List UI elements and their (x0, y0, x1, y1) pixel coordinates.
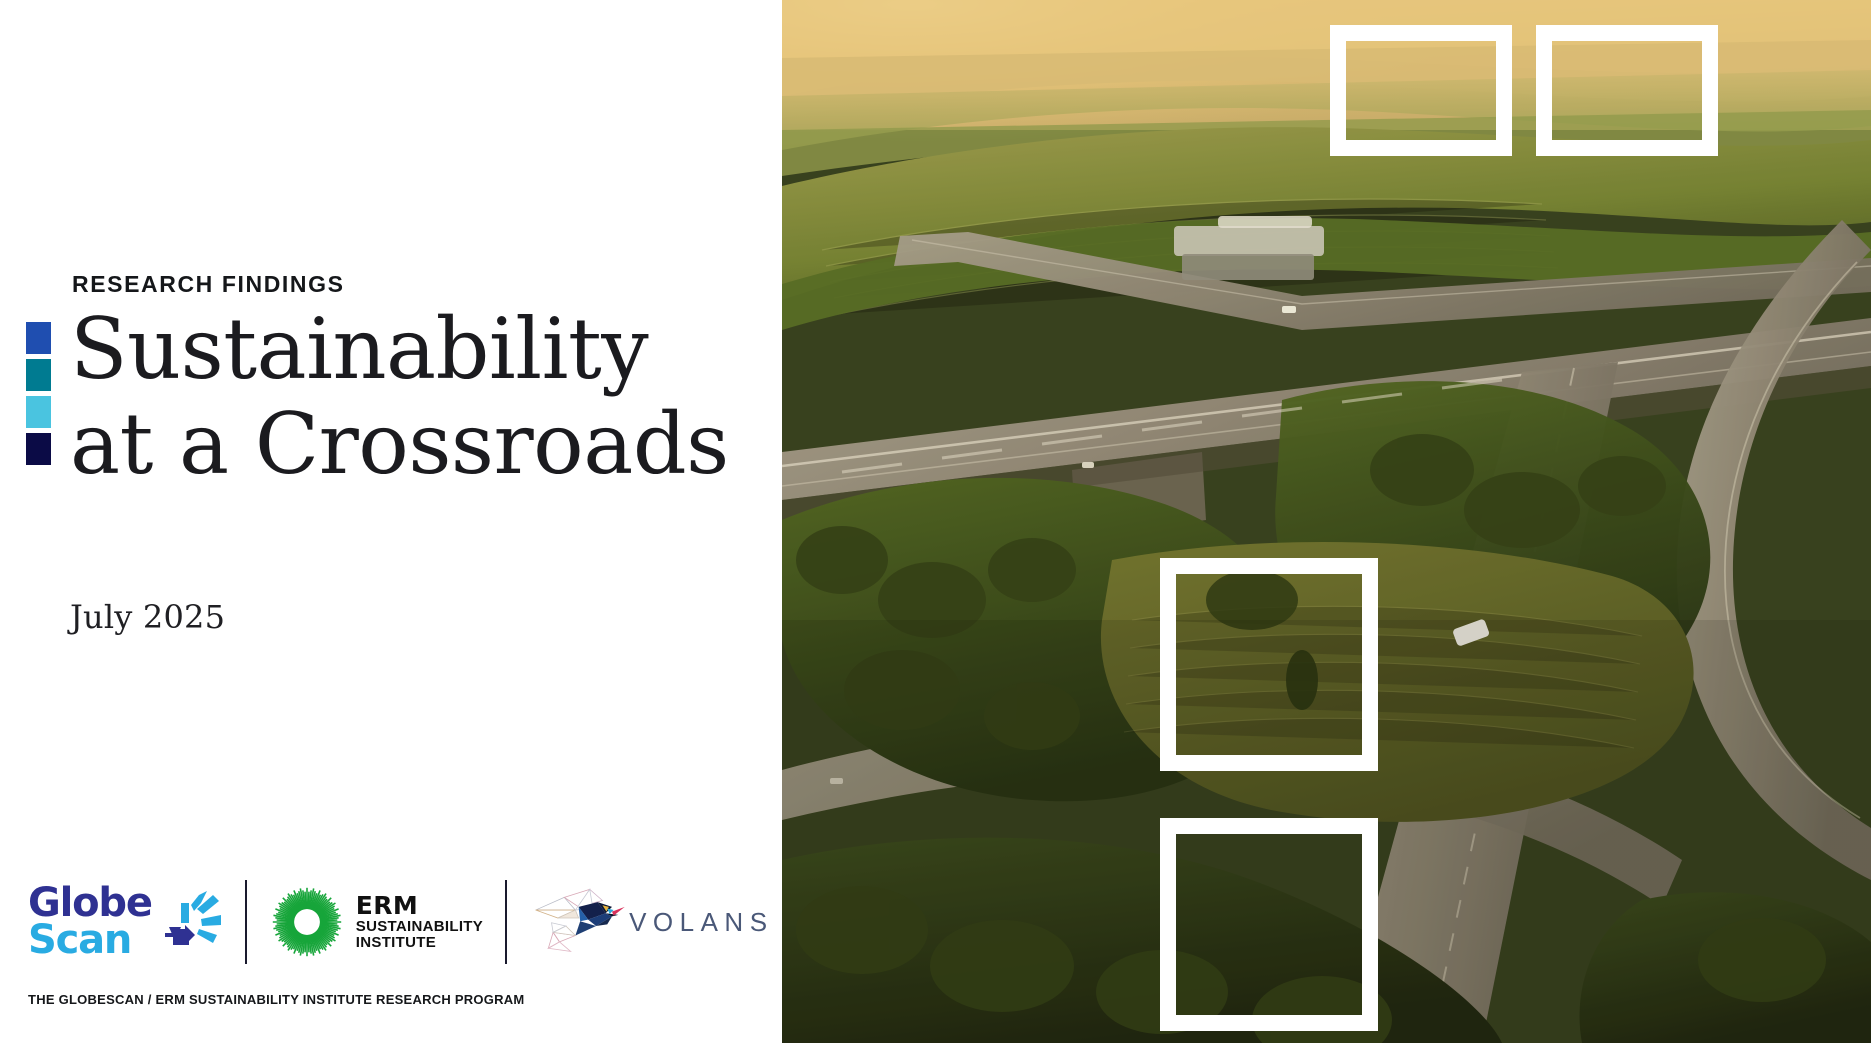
brand-swatch-stack (26, 322, 51, 465)
title-line-2: at a Crossroads (70, 397, 770, 492)
cover-text-panel: RESEARCH FINDINGS Sustainability at a Cr… (0, 0, 782, 1043)
footer-tagline: THE GLOBESCAN / ERM SUSTAINABILITY INSTI… (28, 992, 525, 1007)
erm-sub-institute: INSTITUTE (356, 935, 483, 951)
erm-name: ERM (356, 893, 483, 919)
cover-photograph (782, 0, 1871, 1043)
logo-divider-2 (505, 880, 507, 964)
volans-logo-cell: VOLANS (529, 877, 774, 967)
erm-sunburst-icon (269, 884, 345, 960)
erm-sub-sustainability: SUSTAINABILITY (356, 919, 483, 935)
eyebrow-label: RESEARCH FINDINGS (72, 271, 345, 298)
erm-logo-cell: ERM SUSTAINABILITY INSTITUTE (269, 877, 483, 967)
globescan-logo: Globe Scan (28, 885, 223, 959)
erm-logo: ERM SUSTAINABILITY INSTITUTE (269, 884, 483, 960)
globescan-burst-icon (161, 889, 223, 955)
photo-frame-bottom (1160, 818, 1378, 1031)
page-title: Sustainability at a Crossroads (70, 302, 770, 492)
photo-frame-top-left (1330, 25, 1512, 156)
report-cover-slide: RESEARCH FINDINGS Sustainability at a Cr… (0, 0, 1871, 1043)
logo-divider-1 (245, 880, 247, 964)
photo-frame-mid (1160, 558, 1378, 771)
erm-wordmark: ERM SUSTAINABILITY INSTITUTE (356, 893, 483, 950)
photo-frame-top-right (1536, 25, 1718, 156)
brand-swatch-cyan (26, 396, 51, 428)
globescan-logo-cell: Globe Scan (28, 877, 223, 967)
volans-hummingbird-icon (529, 883, 625, 961)
publication-date: July 2025 (70, 598, 225, 636)
brand-swatch-blue (26, 322, 51, 354)
logo-row: Globe Scan (28, 877, 774, 967)
volans-wordmark: VOLANS (629, 907, 774, 938)
brand-swatch-navy (26, 433, 51, 465)
title-line-1: Sustainability (70, 302, 770, 397)
volans-logo: VOLANS (529, 883, 774, 961)
brand-swatch-teal (26, 359, 51, 391)
globescan-word-scan: Scan (28, 922, 152, 959)
globescan-wordmark: Globe Scan (28, 885, 152, 959)
